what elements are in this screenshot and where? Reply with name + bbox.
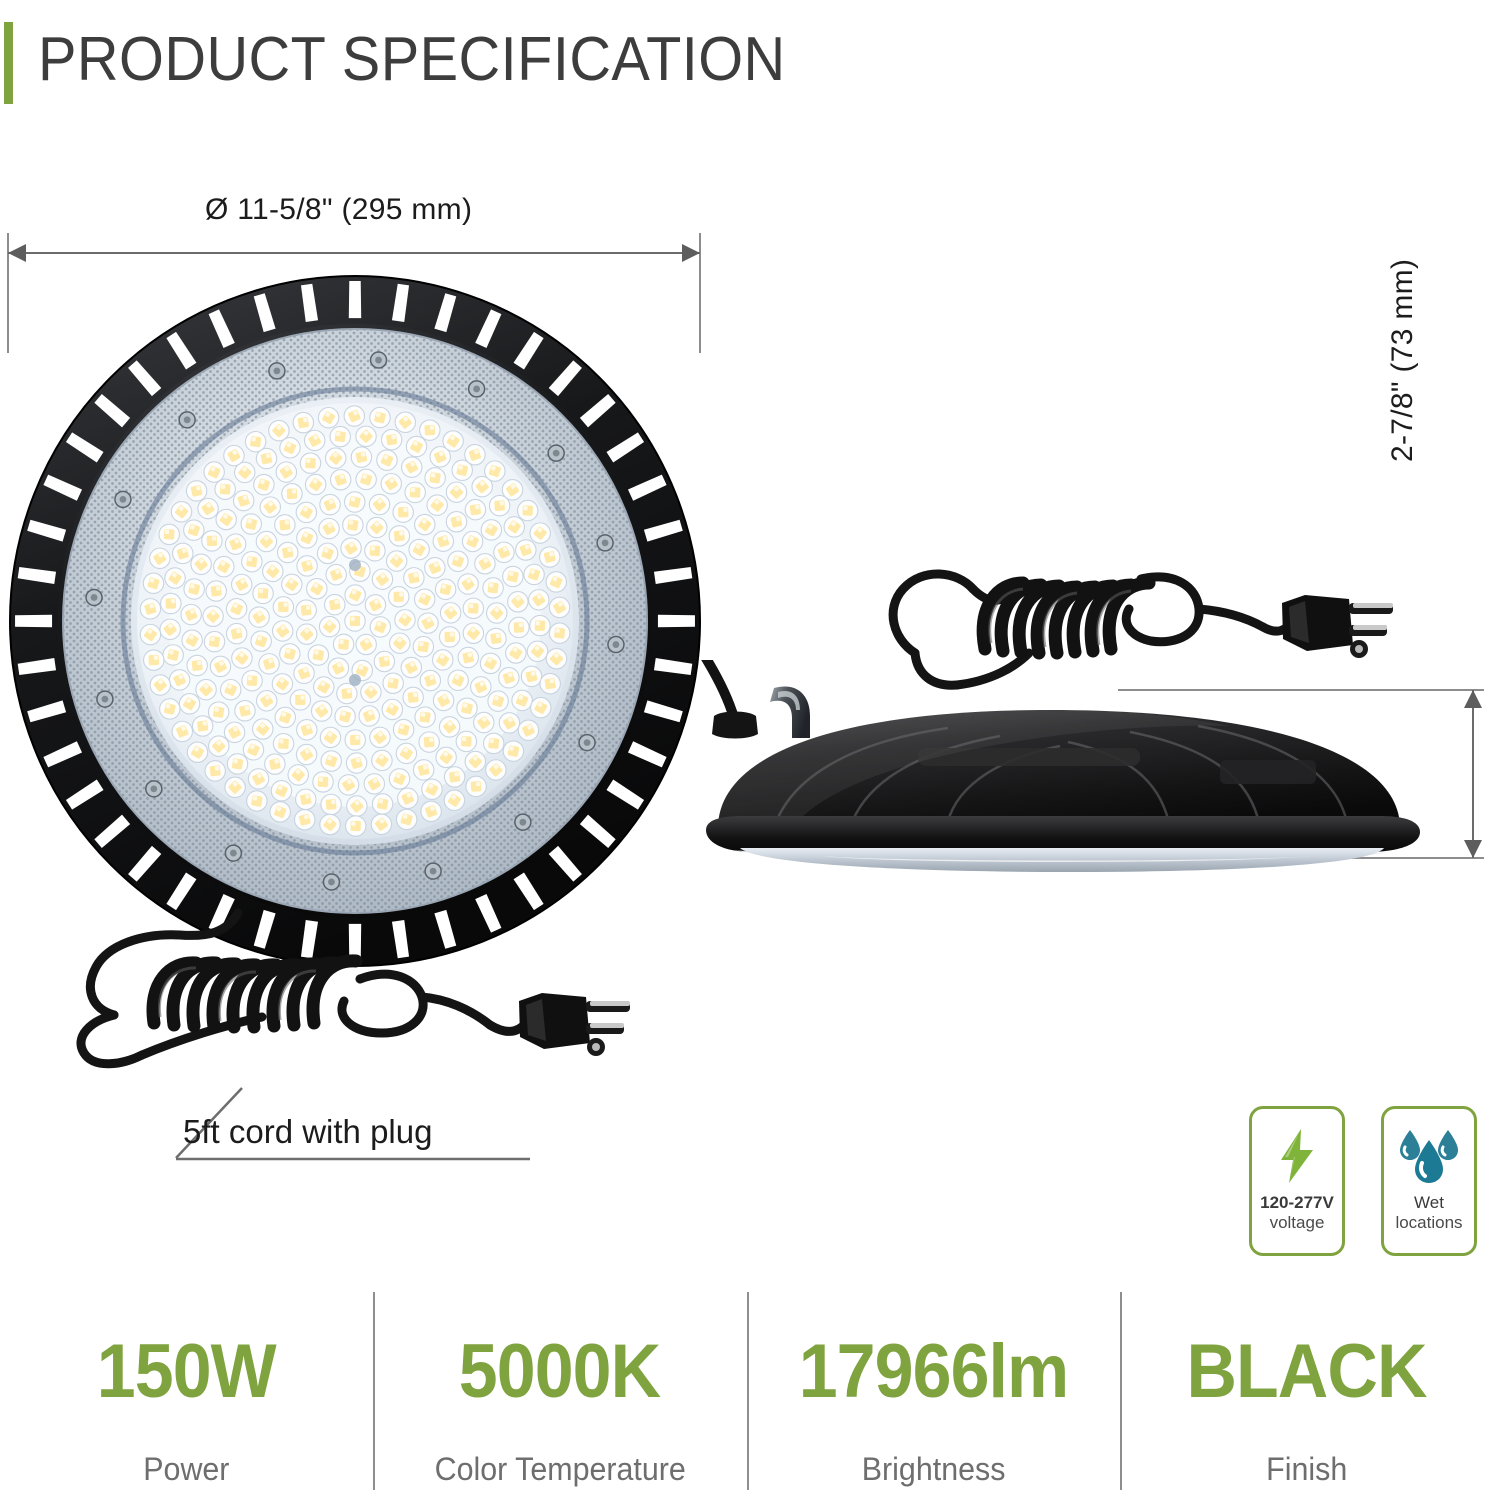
spec-brightness-label: Brightness — [861, 1451, 1005, 1488]
spec-power: 150W Power — [0, 1292, 373, 1500]
spec-finish-value: BLACK — [1186, 1328, 1426, 1415]
product-specification-page: PRODUCT SPECIFICATION Ø 11-5/8" (295 mm)… — [0, 0, 1493, 1500]
spec-brightness-value: 17966lm — [798, 1328, 1068, 1415]
cord-callout-label: 5ft cord with plug — [183, 1113, 432, 1151]
spec-color-temperature: 5000K Color Temperature — [373, 1292, 746, 1500]
cord-entry — [700, 660, 734, 718]
led-panel — [137, 403, 573, 839]
wet-badge-line1: Wet — [1414, 1193, 1444, 1213]
voltage-badge: 120-277V voltage — [1249, 1106, 1345, 1256]
ufo-high-bay-front-view — [2, 268, 708, 974]
lens-diffuser — [740, 848, 1384, 872]
spec-power-value: 150W — [97, 1328, 276, 1415]
nema-plug — [519, 993, 630, 1056]
diameter-dimension-label: Ø 11-5/8" (295 mm) — [205, 193, 472, 227]
spec-summary-bar: 150W Power 5000K Color Temperature 17966… — [0, 1292, 1493, 1500]
voltage-badge-label: voltage — [1270, 1213, 1325, 1233]
water-drops-icon — [1396, 1123, 1462, 1189]
housing-rim-flange — [706, 816, 1420, 852]
wet-locations-badge: Wet locations — [1381, 1106, 1477, 1256]
side-view-coiled-cord-with-plug — [845, 545, 1425, 735]
page-title: PRODUCT SPECIFICATION — [38, 24, 786, 95]
diameter-dimension-line — [8, 252, 700, 254]
cord-grommet — [712, 712, 758, 739]
coiled-power-cord-with-plug — [30, 905, 650, 1105]
spec-brightness: 17966lm Brightness — [747, 1292, 1120, 1500]
lightning-bolt-icon — [1275, 1123, 1319, 1189]
dimension-arrow-right — [682, 244, 700, 262]
spec-power-label: Power — [144, 1451, 230, 1488]
spec-color-temperature-label: Color Temperature — [434, 1451, 685, 1488]
nema-plug — [1282, 595, 1393, 658]
hanging-hook — [770, 686, 810, 738]
voltage-badge-value: 120-277V — [1260, 1193, 1334, 1213]
spec-finish-label: Finish — [1266, 1451, 1347, 1488]
spec-finish: BLACK Finish — [1120, 1292, 1493, 1500]
wet-badge-line2: locations — [1395, 1213, 1462, 1233]
spec-color-temperature-value: 5000K — [459, 1328, 660, 1415]
dimension-arrow-left — [8, 244, 26, 262]
title-accent-bar — [4, 22, 13, 104]
height-dimension-label: 2-7/8" (73 mm) — [1386, 232, 1420, 462]
